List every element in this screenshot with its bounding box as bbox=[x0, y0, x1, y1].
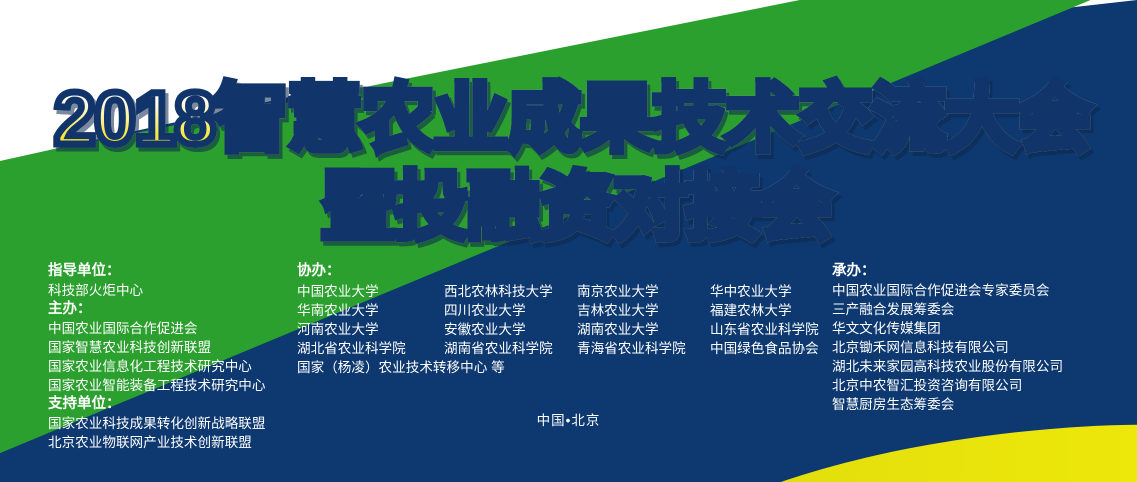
coorganizer-item: 四川农业大学 bbox=[444, 301, 577, 320]
organizer-item: 中国农业国际合作促进会专家委员会 bbox=[832, 281, 1132, 300]
support-unit-item: 北京农业物联网产业技术创新联盟 bbox=[48, 433, 348, 452]
coorganizer-item: 河南农业大学 bbox=[297, 320, 444, 339]
coorganizer-item: 吉林农业大学 bbox=[577, 301, 710, 320]
organizer-item: 华文文化传媒集团 bbox=[832, 319, 1132, 338]
coorganizer-item: 华中农业大学 bbox=[710, 282, 792, 301]
organizer-item: 北京中农智汇投资咨询有限公司 bbox=[832, 376, 1132, 395]
conference-banner: 2018智慧农业成果技术交流大会 暨投融资对接会 指导单位： 科技部火炬中心 主… bbox=[0, 0, 1137, 482]
coorganizer-item: 华南农业大学 bbox=[297, 301, 444, 320]
coorganizer-item: 青海省农业科学院 bbox=[577, 339, 710, 358]
coorganizer-last-item: 国家（杨凌）农业技术转移中心 等 bbox=[297, 358, 817, 377]
organizer-item: 北京锄禾网信息科技有限公司 bbox=[832, 338, 1132, 357]
coorganizer-item: 湖南省农业科学院 bbox=[444, 339, 577, 358]
coorganizer-item: 中国农业大学 bbox=[297, 282, 444, 301]
right-info-column: 承办： 中国农业国际合作促进会专家委员会 三产融合发展筹委会 华文文化传媒集团 … bbox=[832, 262, 1132, 414]
organizer-heading: 承办： bbox=[832, 262, 1132, 281]
coorganizer-row: 中国农业大学 西北农林科技大学 南京农业大学 华中农业大学 bbox=[297, 282, 817, 301]
coorganizer-heading: 协办： bbox=[297, 262, 817, 281]
event-location: 中国•北京 bbox=[0, 409, 1137, 429]
host-unit-item: 国家农业智能装备工程技术研究中心 bbox=[48, 376, 348, 395]
middle-info-column: 协办： 中国农业大学 西北农林科技大学 南京农业大学 华中农业大学 华南农业大学… bbox=[297, 262, 817, 377]
coorganizer-item: 福建农林大学 bbox=[710, 301, 792, 320]
coorganizer-item: 山东省农业科学院 bbox=[710, 320, 819, 339]
coorganizer-item: 中国绿色食品协会 bbox=[710, 339, 819, 358]
coorganizer-row: 华南农业大学 四川农业大学 吉林农业大学 福建农林大学 bbox=[297, 301, 817, 320]
organizer-item: 湖北未来家园高科技农业股份有限公司 bbox=[832, 357, 1132, 376]
coorganizer-item: 湖南农业大学 bbox=[577, 320, 710, 339]
coorganizer-item: 西北农林科技大学 bbox=[444, 282, 577, 301]
coorganizer-item: 南京农业大学 bbox=[577, 282, 710, 301]
coorganizer-item: 安徽农业大学 bbox=[444, 320, 577, 339]
coorganizer-row: 湖北省农业科学院 湖南省农业科学院 青海省农业科学院 中国绿色食品协会 bbox=[297, 339, 817, 358]
coorganizer-item: 湖北省农业科学院 bbox=[297, 339, 444, 358]
coorganizer-row: 河南农业大学 安徽农业大学 湖南农业大学 山东省农业科学院 bbox=[297, 320, 817, 339]
organizer-item: 三产融合发展筹委会 bbox=[832, 300, 1132, 319]
